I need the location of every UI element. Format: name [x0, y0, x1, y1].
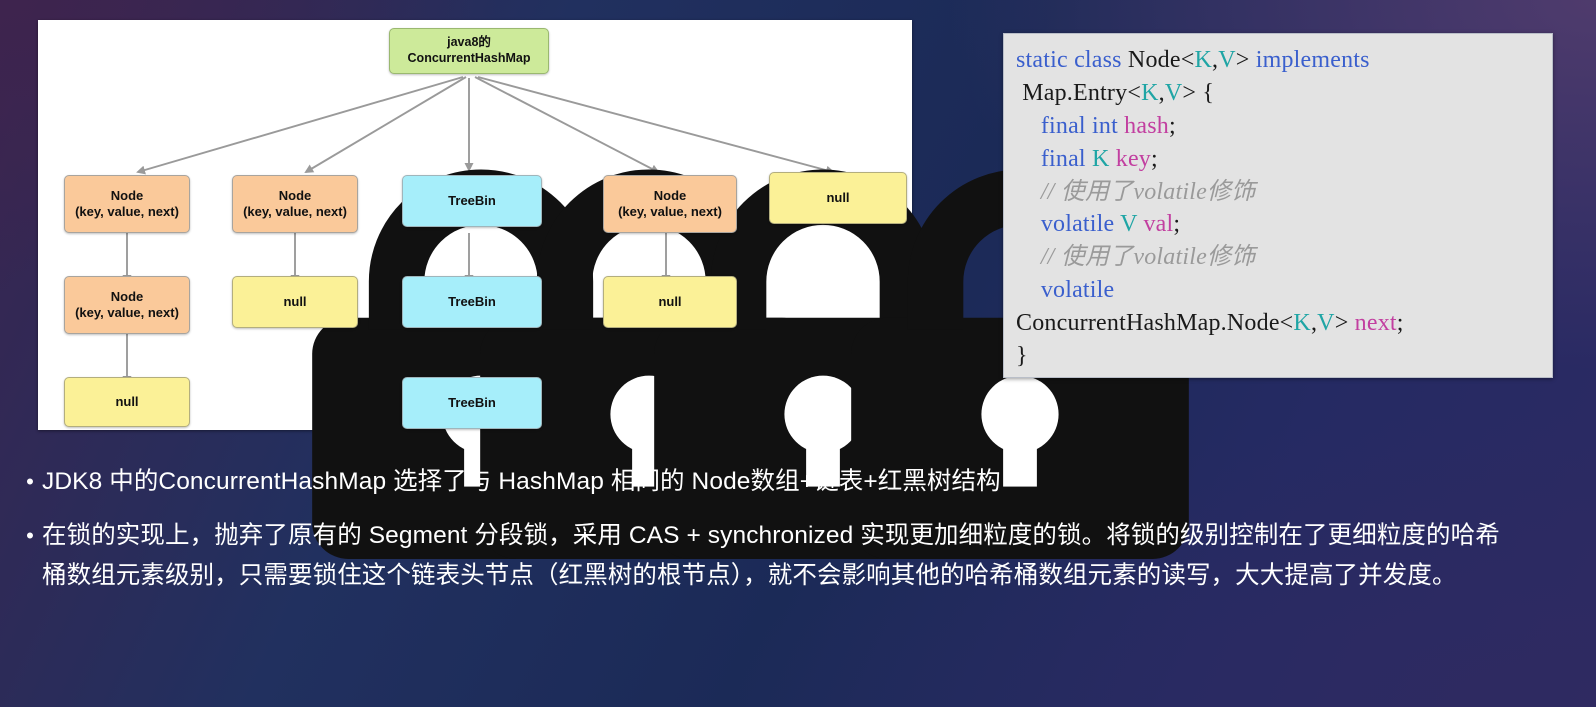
cell-line-1: Node: [654, 188, 687, 204]
diagram-cell-4-0: null: [769, 172, 907, 224]
diagram-cell-1-0: Node (key, value, next): [232, 175, 358, 233]
diagram-panel: java8的 ConcurrentHashMap Node (key, valu…: [38, 20, 912, 430]
diagram-cell-2-0: TreeBin: [402, 175, 542, 227]
code-token-node: Node: [1128, 47, 1181, 73]
code-token-key: key: [1116, 146, 1151, 172]
cell-line-1: Node: [111, 289, 144, 305]
cell-line-1: null: [826, 190, 849, 206]
diagram-cell-2-1: TreeBin: [402, 276, 542, 328]
code-token-map-entry: Map.Entry: [1022, 80, 1127, 106]
bullet-list: • JDK8 中的ConcurrentHashMap 选择了与 HashMap …: [18, 462, 1578, 610]
code-token-val: val: [1143, 211, 1173, 237]
cell-line-1: TreeBin: [448, 395, 496, 411]
diagram-cell-0-0: Node (key, value, next): [64, 175, 190, 233]
code-token-close-brace: }: [1016, 343, 1028, 369]
code-token-k: K: [1141, 80, 1159, 106]
cell-line-1: Node: [279, 188, 312, 204]
bullet-marker: •: [18, 462, 42, 502]
code-token-v: V: [1317, 310, 1335, 336]
cell-line-1: null: [283, 294, 306, 310]
cell-line-1: TreeBin: [448, 193, 496, 209]
code-token-volatile: volatile: [1041, 277, 1115, 303]
code-token-implements: implements: [1256, 47, 1370, 73]
code-comment-volatile-2: // 使用了volatile修饰: [1041, 244, 1256, 270]
code-token-open-brace: {: [1202, 80, 1214, 106]
diagram-cell-0-1: Node (key, value, next): [64, 276, 190, 334]
cell-line-1: TreeBin: [448, 294, 496, 310]
code-token-hash: hash: [1124, 113, 1169, 139]
diagram-cell-3-1: null: [603, 276, 737, 328]
cell-line-2: (key, value, next): [243, 204, 347, 220]
code-token-k: K: [1092, 146, 1110, 172]
code-token-class: class: [1074, 47, 1122, 73]
code-token-k: K: [1194, 47, 1212, 73]
code-token-final: final: [1041, 146, 1086, 172]
cell-line-2: (key, value, next): [75, 305, 179, 321]
cell-line-2: (key, value, next): [75, 204, 179, 220]
code-panel: static class Node<K,V> implements Map.En…: [1003, 33, 1553, 378]
root-line-2: ConcurrentHashMap: [408, 51, 531, 67]
code-token-v: V: [1120, 211, 1137, 237]
bullet-text: JDK8 中的ConcurrentHashMap 选择了与 HashMap 相同…: [42, 462, 1001, 502]
bullet-item: • 在锁的实现上，抛弃了原有的 Segment 分段锁，采用 CAS + syn…: [18, 516, 1578, 596]
code-token-static: static: [1016, 47, 1068, 73]
bullet-item: • JDK8 中的ConcurrentHashMap 选择了与 HashMap …: [18, 462, 1578, 502]
diagram-cell-3-0: Node (key, value, next): [603, 175, 737, 233]
cell-line-1: null: [658, 294, 681, 310]
code-token-v: V: [1218, 47, 1236, 73]
code-token-volatile: volatile: [1041, 211, 1115, 237]
code-comment-volatile-1: // 使用了volatile修饰: [1041, 179, 1256, 205]
slide-root: java8的 ConcurrentHashMap Node (key, valu…: [0, 0, 1596, 707]
root-line-1: java8的: [447, 35, 491, 51]
cell-line-2: (key, value, next): [618, 204, 722, 220]
bullet-text: 在锁的实现上，抛弃了原有的 Segment 分段锁，采用 CAS + synch…: [42, 516, 1512, 596]
code-token-final: final: [1041, 113, 1086, 139]
cell-line-1: null: [115, 394, 138, 410]
diagram-node-root: java8的 ConcurrentHashMap: [389, 28, 549, 74]
code-token-v: V: [1165, 80, 1183, 106]
code-token-next: next: [1355, 310, 1397, 336]
bullet-marker: •: [18, 516, 42, 556]
code-token-k: K: [1293, 310, 1311, 336]
diagram-cell-2-2: TreeBin: [402, 377, 542, 429]
code-token-chm-node: ConcurrentHashMap.Node: [1016, 310, 1280, 336]
cell-line-1: Node: [111, 188, 144, 204]
diagram-cell-1-1: null: [232, 276, 358, 328]
code-token-int: int: [1092, 113, 1118, 139]
diagram-cell-0-2: null: [64, 377, 190, 427]
